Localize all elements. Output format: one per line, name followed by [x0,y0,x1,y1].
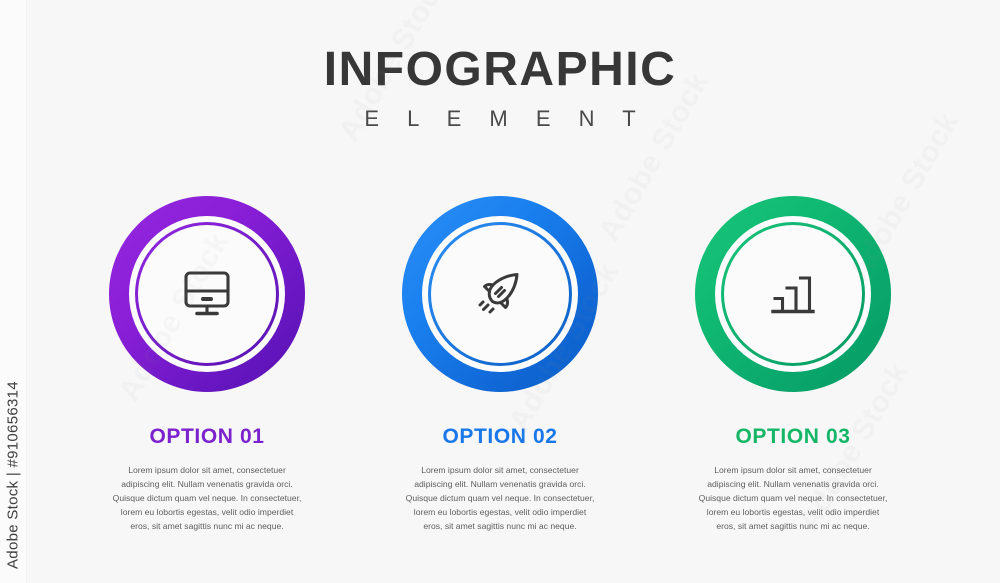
bar-chart-icon [760,261,826,327]
circle-disc [431,225,569,363]
page-title: INFOGRAPHIC [0,46,1000,94]
option-label-3: OPTION 03 [735,426,850,447]
option-circle-badge-2[interactable] [402,196,598,392]
option-circle-badge-1[interactable] [109,196,305,392]
title-block: INFOGRAPHIC E L E M E N T [0,46,1000,132]
option-circle-badge-3[interactable] [695,196,891,392]
option-label-2: OPTION 02 [442,426,557,447]
option-card-2[interactable]: OPTION 02 Lorem ipsum dolor sit amet, co… [354,196,647,534]
option-card-3[interactable]: OPTION 03 Lorem ipsum dolor sit amet, co… [647,196,940,534]
monitor-icon [174,261,240,327]
options-row: OPTION 01 Lorem ipsum dolor sit amet, co… [0,196,1000,534]
rocket-icon [467,261,533,327]
page-subtitle: E L E M E N T [0,106,1000,132]
option-label-1: OPTION 01 [149,426,264,447]
circle-disc [724,225,862,363]
circle-disc [138,225,276,363]
option-description-3: Lorem ipsum dolor sit amet, consectetuer… [698,464,888,534]
option-description-1: Lorem ipsum dolor sit amet, consectetuer… [112,464,302,534]
option-card-1[interactable]: OPTION 01 Lorem ipsum dolor sit amet, co… [61,196,354,534]
option-description-2: Lorem ipsum dolor sit amet, consectetuer… [405,464,595,534]
